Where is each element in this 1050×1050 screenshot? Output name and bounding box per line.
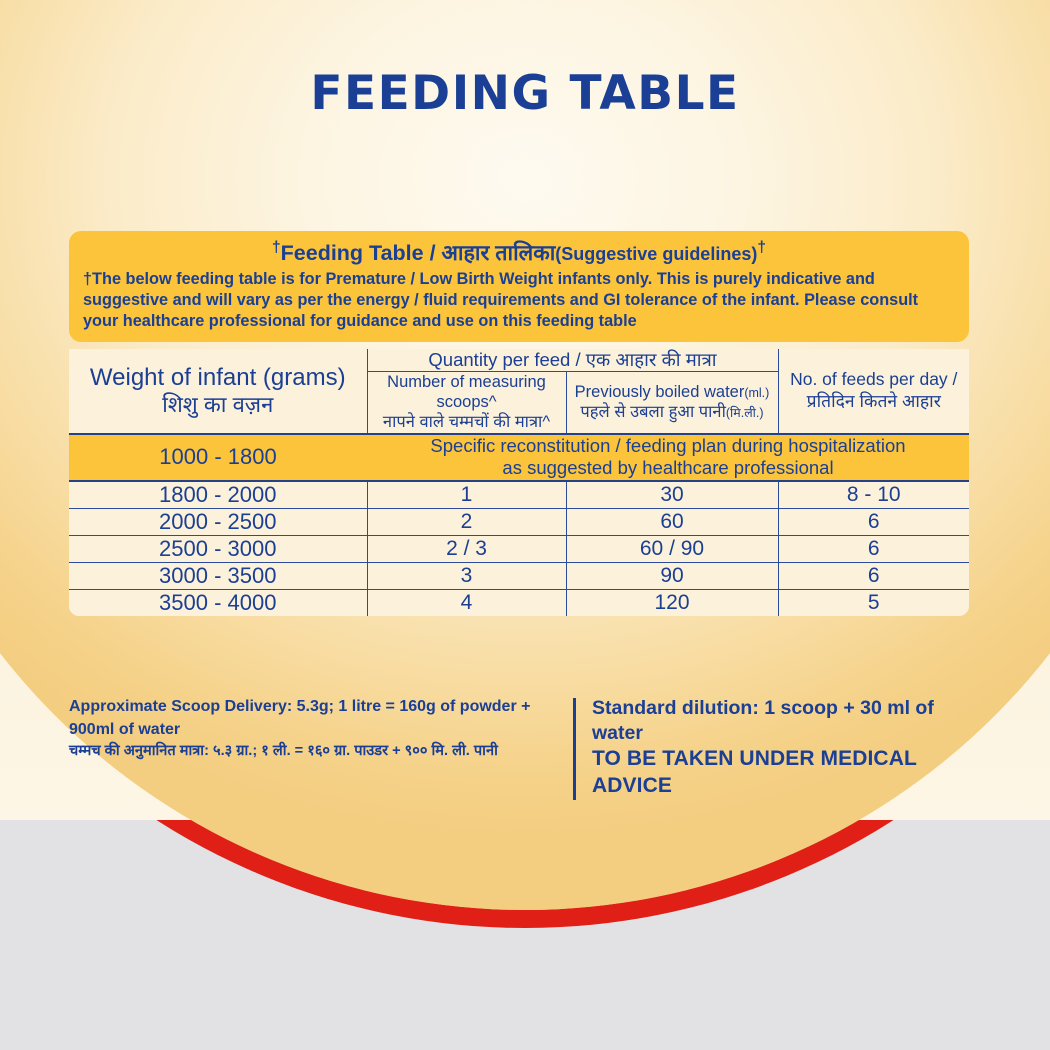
table-head: Weight of infant (grams) शिशु का वज़न Qu… [69, 349, 969, 434]
header-weight-hi: शिशु का वज़न [69, 392, 367, 419]
page-title: FEEDING TABLE [0, 66, 1050, 121]
footer-vertical-divider [573, 698, 576, 800]
note-line-1: Specific reconstitution / feeding plan d… [367, 435, 969, 458]
footer-medical-advice-line: TO BE TAKEN UNDER MEDICAL ADVICE [592, 746, 969, 800]
cell-feeds: 6 [778, 508, 969, 535]
footer-scoop-delivery-en: Approximate Scoop Delivery: 5.3g; 1 litr… [69, 696, 563, 741]
header-water-en-unit: (ml.) [744, 386, 769, 400]
cell-weight-range: 1800 - 2000 [69, 481, 367, 509]
header-water-hi-unit: (मि.ली.) [726, 406, 764, 420]
table-row: 1800 - 2000 1 30 8 - 10 [69, 481, 969, 509]
header-boiled-water: Previously boiled water(ml.) पहले से उबल… [566, 372, 778, 434]
header-quantity-per-feed: Quantity per feed / एक आहार की मात्रा [367, 349, 778, 372]
cell-water: 60 / 90 [566, 535, 778, 562]
header-scoops-en: Number of measuring scoops^ [368, 372, 566, 412]
table-header-row-1: Weight of infant (grams) शिशु का वज़न Qu… [69, 349, 969, 372]
note-line-2: as suggested by healthcare professional [367, 457, 969, 480]
cell-weight-range: 1000 - 1800 [69, 434, 367, 481]
header-water-en-line: Previously boiled water(ml.) [567, 382, 778, 402]
disclaimer-heading-separator: / [424, 241, 442, 265]
footer-standard-dilution: Standard dilution: 1 scoop + 30 ml of wa… [592, 696, 969, 800]
dagger-icon: † [272, 239, 281, 256]
header-water-en: Previously boiled water [575, 383, 745, 401]
cell-weight-range: 2000 - 2500 [69, 508, 367, 535]
cell-water: 120 [566, 589, 778, 616]
disclaimer-heading-en: Feeding Table [281, 241, 424, 265]
footer-scoop-delivery-hi: चम्मच की अनुमानित मात्रा: ५.३ ग्रा.; १ ल… [69, 741, 563, 762]
header-feeds-hi: प्रतिदिन कितने आहार [779, 391, 970, 413]
header-measuring-scoops: Number of measuring scoops^ नापने वाले च… [367, 372, 566, 434]
cell-feeds: 6 [778, 535, 969, 562]
header-feeds-en: No. of feeds per day / [779, 369, 970, 391]
table-row-hospitalization: 1000 - 1800 Specific reconstitution / fe… [69, 434, 969, 481]
cell-feeds: 5 [778, 589, 969, 616]
feeding-table: Weight of infant (grams) शिशु का वज़न Qu… [69, 349, 969, 616]
header-water-hi-line: पहले से उबला हुआ पानी(मि.ली.) [567, 402, 778, 422]
dagger-icon-2: † [757, 239, 766, 256]
content-layer: FEEDING TABLE †Feeding Table / आहार तालि… [0, 0, 1050, 1050]
table-row: 3000 - 3500 3 90 6 [69, 562, 969, 589]
table-row: 2500 - 3000 2 / 3 60 / 90 6 [69, 535, 969, 562]
cell-hospitalization-note: Specific reconstitution / feeding plan d… [367, 434, 969, 481]
cell-scoops: 4 [367, 589, 566, 616]
cell-feeds: 6 [778, 562, 969, 589]
header-weight-of-infant: Weight of infant (grams) शिशु का वज़न [69, 349, 367, 434]
table-body: 1000 - 1800 Specific reconstitution / fe… [69, 434, 969, 616]
footer-dilution-line: Standard dilution: 1 scoop + 30 ml of wa… [592, 696, 969, 746]
disclaimer-heading-hi: आहार तालिका [442, 241, 556, 265]
cell-water: 90 [566, 562, 778, 589]
cell-weight-range: 2500 - 3000 [69, 535, 367, 562]
header-feeds-per-day: No. of feeds per day / प्रतिदिन कितने आह… [778, 349, 969, 434]
cell-water: 30 [566, 481, 778, 509]
table-row: 2000 - 2500 2 60 6 [69, 508, 969, 535]
cell-scoops: 1 [367, 481, 566, 509]
header-weight-en: Weight of infant (grams) [69, 363, 367, 392]
header-scoops-hi: नापने वाले चम्मचों की मात्रा^ [368, 412, 566, 432]
disclaimer-heading: †Feeding Table / आहार तालिका(Suggestive … [83, 238, 955, 267]
cell-water: 60 [566, 508, 778, 535]
cell-scoops: 3 [367, 562, 566, 589]
feeding-table-wrapper: Weight of infant (grams) शिशु का वज़न Qu… [69, 349, 969, 616]
table-row: 3500 - 4000 4 120 5 [69, 589, 969, 616]
footer-notes: Approximate Scoop Delivery: 5.3g; 1 litr… [69, 696, 969, 800]
footer-scoop-delivery: Approximate Scoop Delivery: 5.3g; 1 litr… [69, 696, 573, 762]
disclaimer-box: †Feeding Table / आहार तालिका(Suggestive … [69, 231, 969, 342]
cell-feeds: 8 - 10 [778, 481, 969, 509]
cell-scoops: 2 [367, 508, 566, 535]
header-water-hi: पहले से उबला हुआ पानी [580, 403, 725, 421]
disclaimer-heading-paren: (Suggestive guidelines) [555, 244, 757, 264]
cell-weight-range: 3000 - 3500 [69, 562, 367, 589]
cell-scoops: 2 / 3 [367, 535, 566, 562]
disclaimer-body: †The below feeding table is for Prematur… [83, 269, 955, 332]
cell-weight-range: 3500 - 4000 [69, 589, 367, 616]
feeding-table-page: FEEDING TABLE †Feeding Table / आहार तालि… [0, 0, 1050, 1050]
